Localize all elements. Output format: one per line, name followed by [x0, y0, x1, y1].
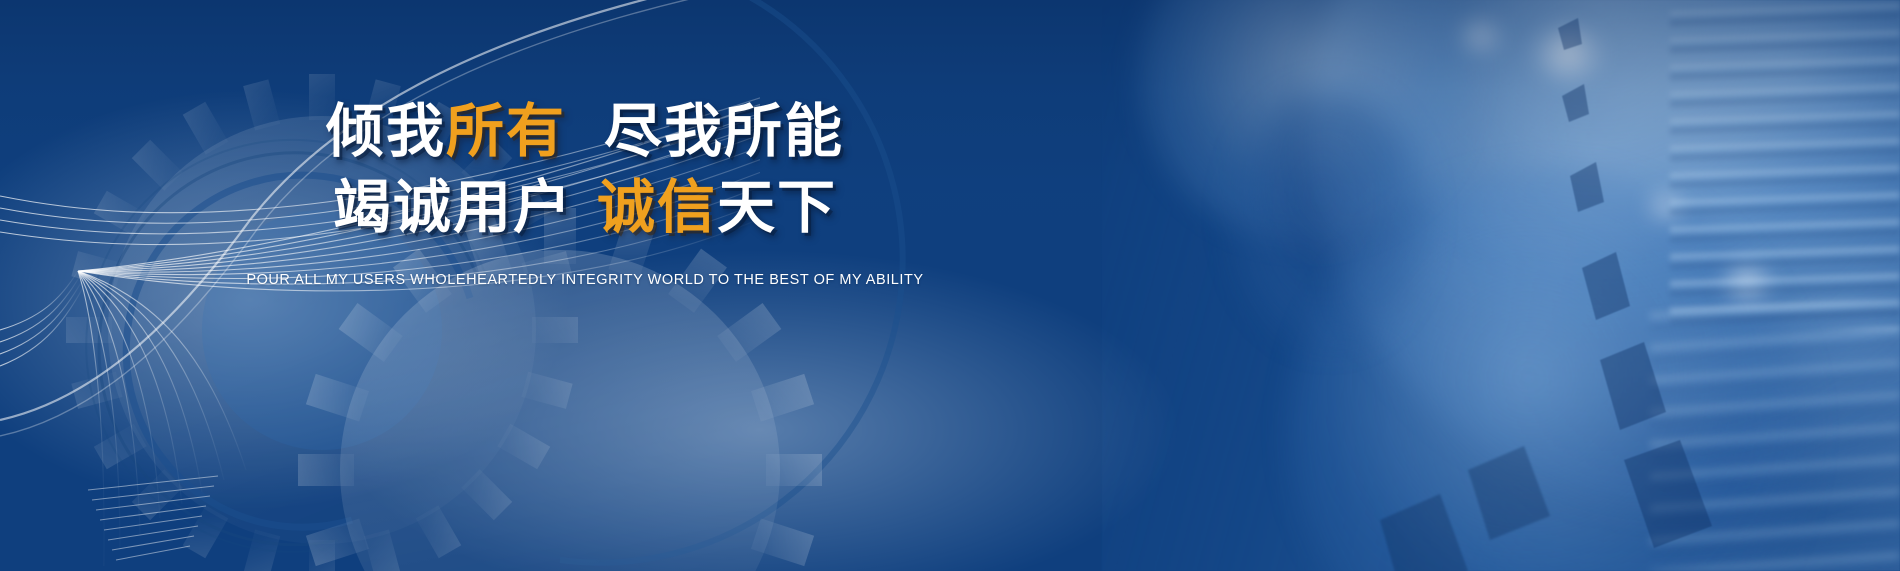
headline-line1-seg1: 倾我: [326, 97, 446, 165]
hero-banner: 倾我所有尽我所能 竭诚用户诚信天下 POUR ALL MY USERS WHOL…: [0, 0, 1900, 571]
headline-line2-seg3: 天下: [717, 173, 837, 241]
headline-line2-seg2: 诚信: [597, 173, 717, 241]
headline-line1-seg3: 尽我所能: [604, 97, 844, 165]
headline-line-1: 倾我所有尽我所能: [0, 96, 1170, 166]
headline-line-2: 竭诚用户诚信天下: [0, 172, 1170, 242]
headline-line1-seg2: 所有: [446, 97, 566, 165]
banner-subtitle: POUR ALL MY USERS WHOLEHEARTEDLY INTEGRI…: [0, 272, 1170, 288]
headline-line2-seg1: 竭诚用户: [333, 173, 573, 241]
banner-copy: 倾我所有尽我所能 竭诚用户诚信天下 POUR ALL MY USERS WHOL…: [0, 96, 1170, 288]
